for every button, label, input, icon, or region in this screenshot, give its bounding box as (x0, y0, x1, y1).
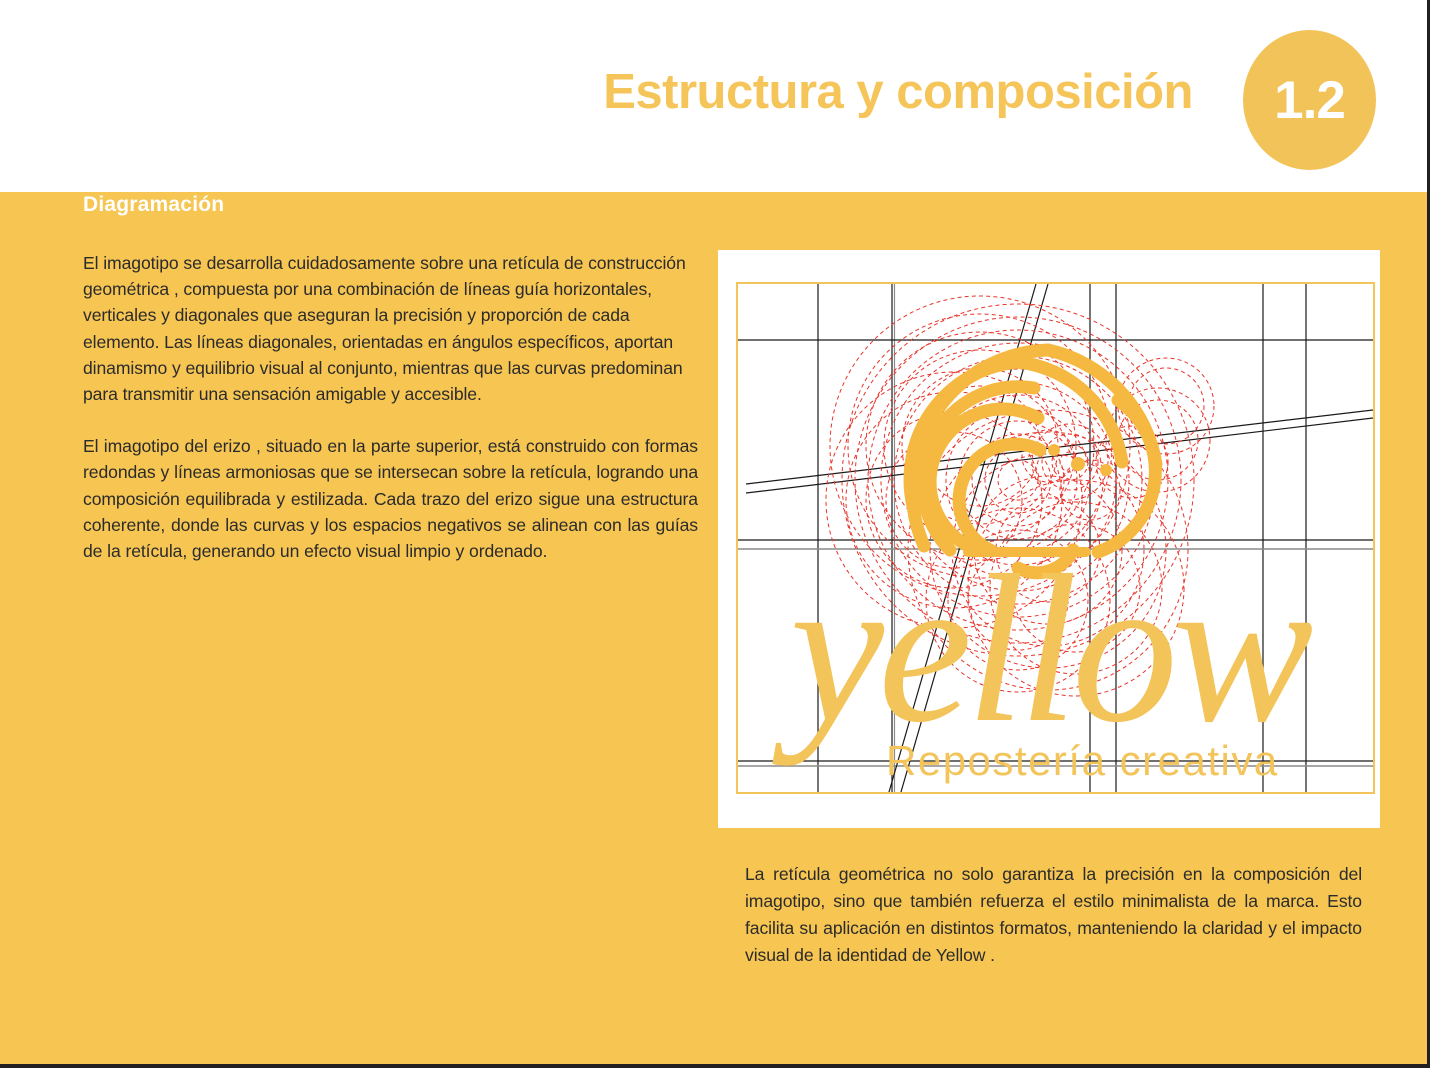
logo-construction-diagram: yellow Repostería creativa (718, 250, 1380, 828)
logo-construction-card: yellow Repostería creativa (718, 250, 1380, 828)
left-text-column: Diagramación El imagotipo se desarrolla … (83, 193, 698, 564)
body-paragraph-1: El imagotipo se desarrolla cuidadosament… (83, 250, 698, 407)
logo-tagline: Repostería creativa (886, 737, 1279, 784)
page-header: Estructura y composición 1.2 (0, 0, 1427, 192)
body-paragraph-2: El imagotipo del erizo , situado en la p… (83, 433, 698, 564)
section-heading: Diagramación (83, 193, 698, 217)
section-number-badge: 1.2 (1243, 30, 1376, 170)
logo-wordmark: yellow (772, 531, 1312, 766)
hedgehog-spines (910, 350, 1156, 550)
page-root: Estructura y composición 1.2 Diagramació… (0, 0, 1430, 1068)
section-number-label: 1.2 (1274, 74, 1345, 127)
page-title: Estructura y composición (603, 64, 1193, 120)
caption-block: La retícula geométrica no solo garantiza… (745, 861, 1362, 969)
caption-paragraph: La retícula geométrica no solo garantiza… (745, 861, 1362, 969)
